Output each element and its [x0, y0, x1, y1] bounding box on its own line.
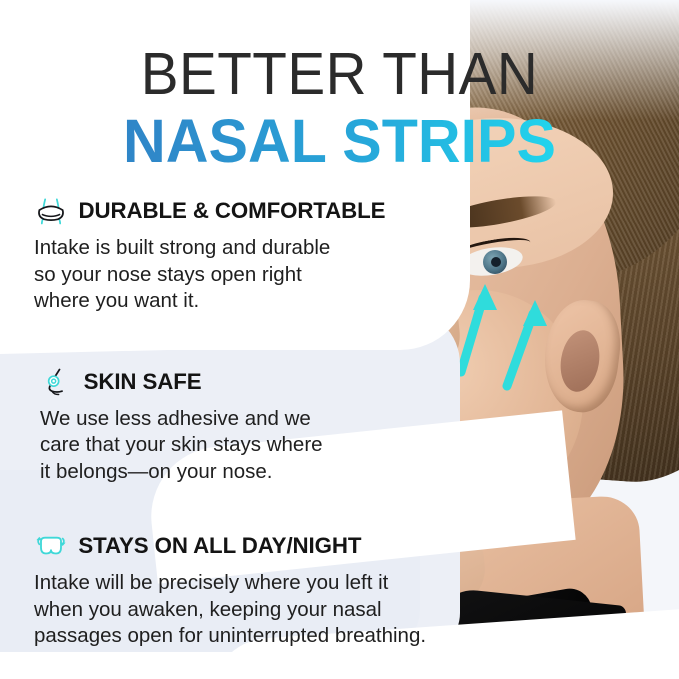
feature-body: We use less adhesive and we care that yo… [40, 406, 340, 486]
headline-line-2: NASAL STRIPS [10, 110, 669, 172]
nose-profile-skin-icon [40, 367, 74, 397]
nose-nostrils-airflow-icon [34, 196, 68, 226]
feature-list: DURABLE & COMFORTABLE Intake is built st… [0, 196, 470, 676]
feature-body: Intake will be precisely where you left … [34, 570, 434, 650]
feature-skin-safe: SKIN SAFE We use less adhesive and we ca… [0, 367, 470, 486]
feature-title: STAYS ON ALL DAY/NIGHT [78, 533, 361, 559]
feature-stays-on-all-day-night: STAYS ON ALL DAY/NIGHT Intake will be pr… [0, 531, 470, 650]
feature-body: Intake is built strong and durable so yo… [34, 235, 364, 315]
headline: BETTER THAN NASAL STRIPS [0, 44, 679, 172]
feature-title: SKIN SAFE [84, 369, 202, 395]
feature-durable-comfortable: DURABLE & COMFORTABLE Intake is built st… [0, 196, 470, 315]
feature-heading-row: STAYS ON ALL DAY/NIGHT [34, 531, 470, 561]
product-feature-image: BETTER THAN NASAL STRIPS DURABLE & COMFO… [0, 0, 679, 679]
nasal-dilator-device-icon [34, 531, 68, 561]
headline-line-1: BETTER THAN [14, 44, 666, 104]
feature-heading-row: SKIN SAFE [40, 367, 470, 397]
feature-heading-row: DURABLE & COMFORTABLE [34, 196, 470, 226]
feature-title: DURABLE & COMFORTABLE [79, 198, 386, 224]
